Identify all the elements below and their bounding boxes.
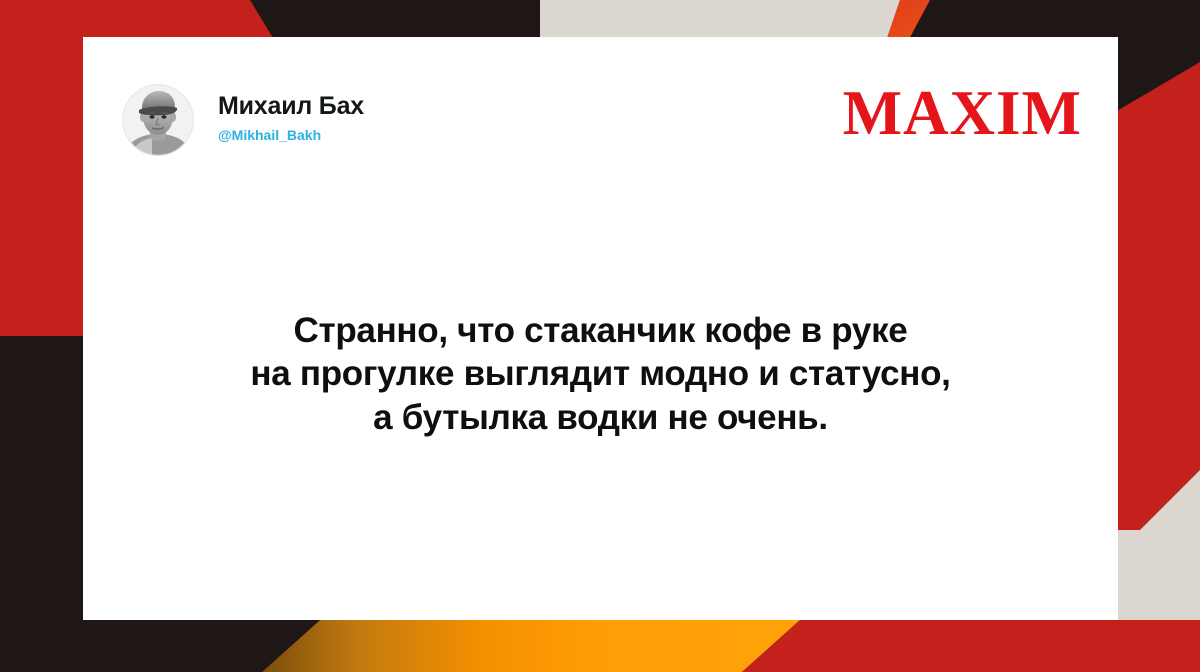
author-identity: Михаил Бах @Mikhail_Bakh bbox=[218, 84, 364, 143]
avatar bbox=[122, 84, 194, 156]
bg-red-bottom-band bbox=[742, 620, 1200, 672]
author-header: Михаил Бах @Mikhail_Bakh bbox=[122, 84, 364, 156]
quote-line-3: а бутылка водки не очень. bbox=[143, 396, 1058, 439]
quote-line-1: Странно, что стаканчик кофе в руке bbox=[143, 309, 1058, 352]
screenshot-stage: Михаил Бах @Mikhail_Bakh MAXIM Странно, … bbox=[0, 0, 1200, 672]
bg-orange-bottom-band bbox=[262, 620, 800, 672]
bg-red-right-band bbox=[1105, 62, 1200, 530]
user-photo-avatar-icon bbox=[122, 84, 194, 156]
quote-line-2: на прогулке выглядит модно и статусно, bbox=[143, 352, 1058, 395]
author-handle[interactable]: @Mikhail_Bakh bbox=[218, 128, 364, 143]
author-display-name: Михаил Бах bbox=[218, 93, 364, 121]
quote-card: Михаил Бах @Mikhail_Bakh MAXIM Странно, … bbox=[83, 37, 1118, 620]
maxim-logo: MAXIM bbox=[843, 82, 1082, 145]
quote-text: Странно, что стаканчик кофе в руке на пр… bbox=[83, 309, 1118, 439]
